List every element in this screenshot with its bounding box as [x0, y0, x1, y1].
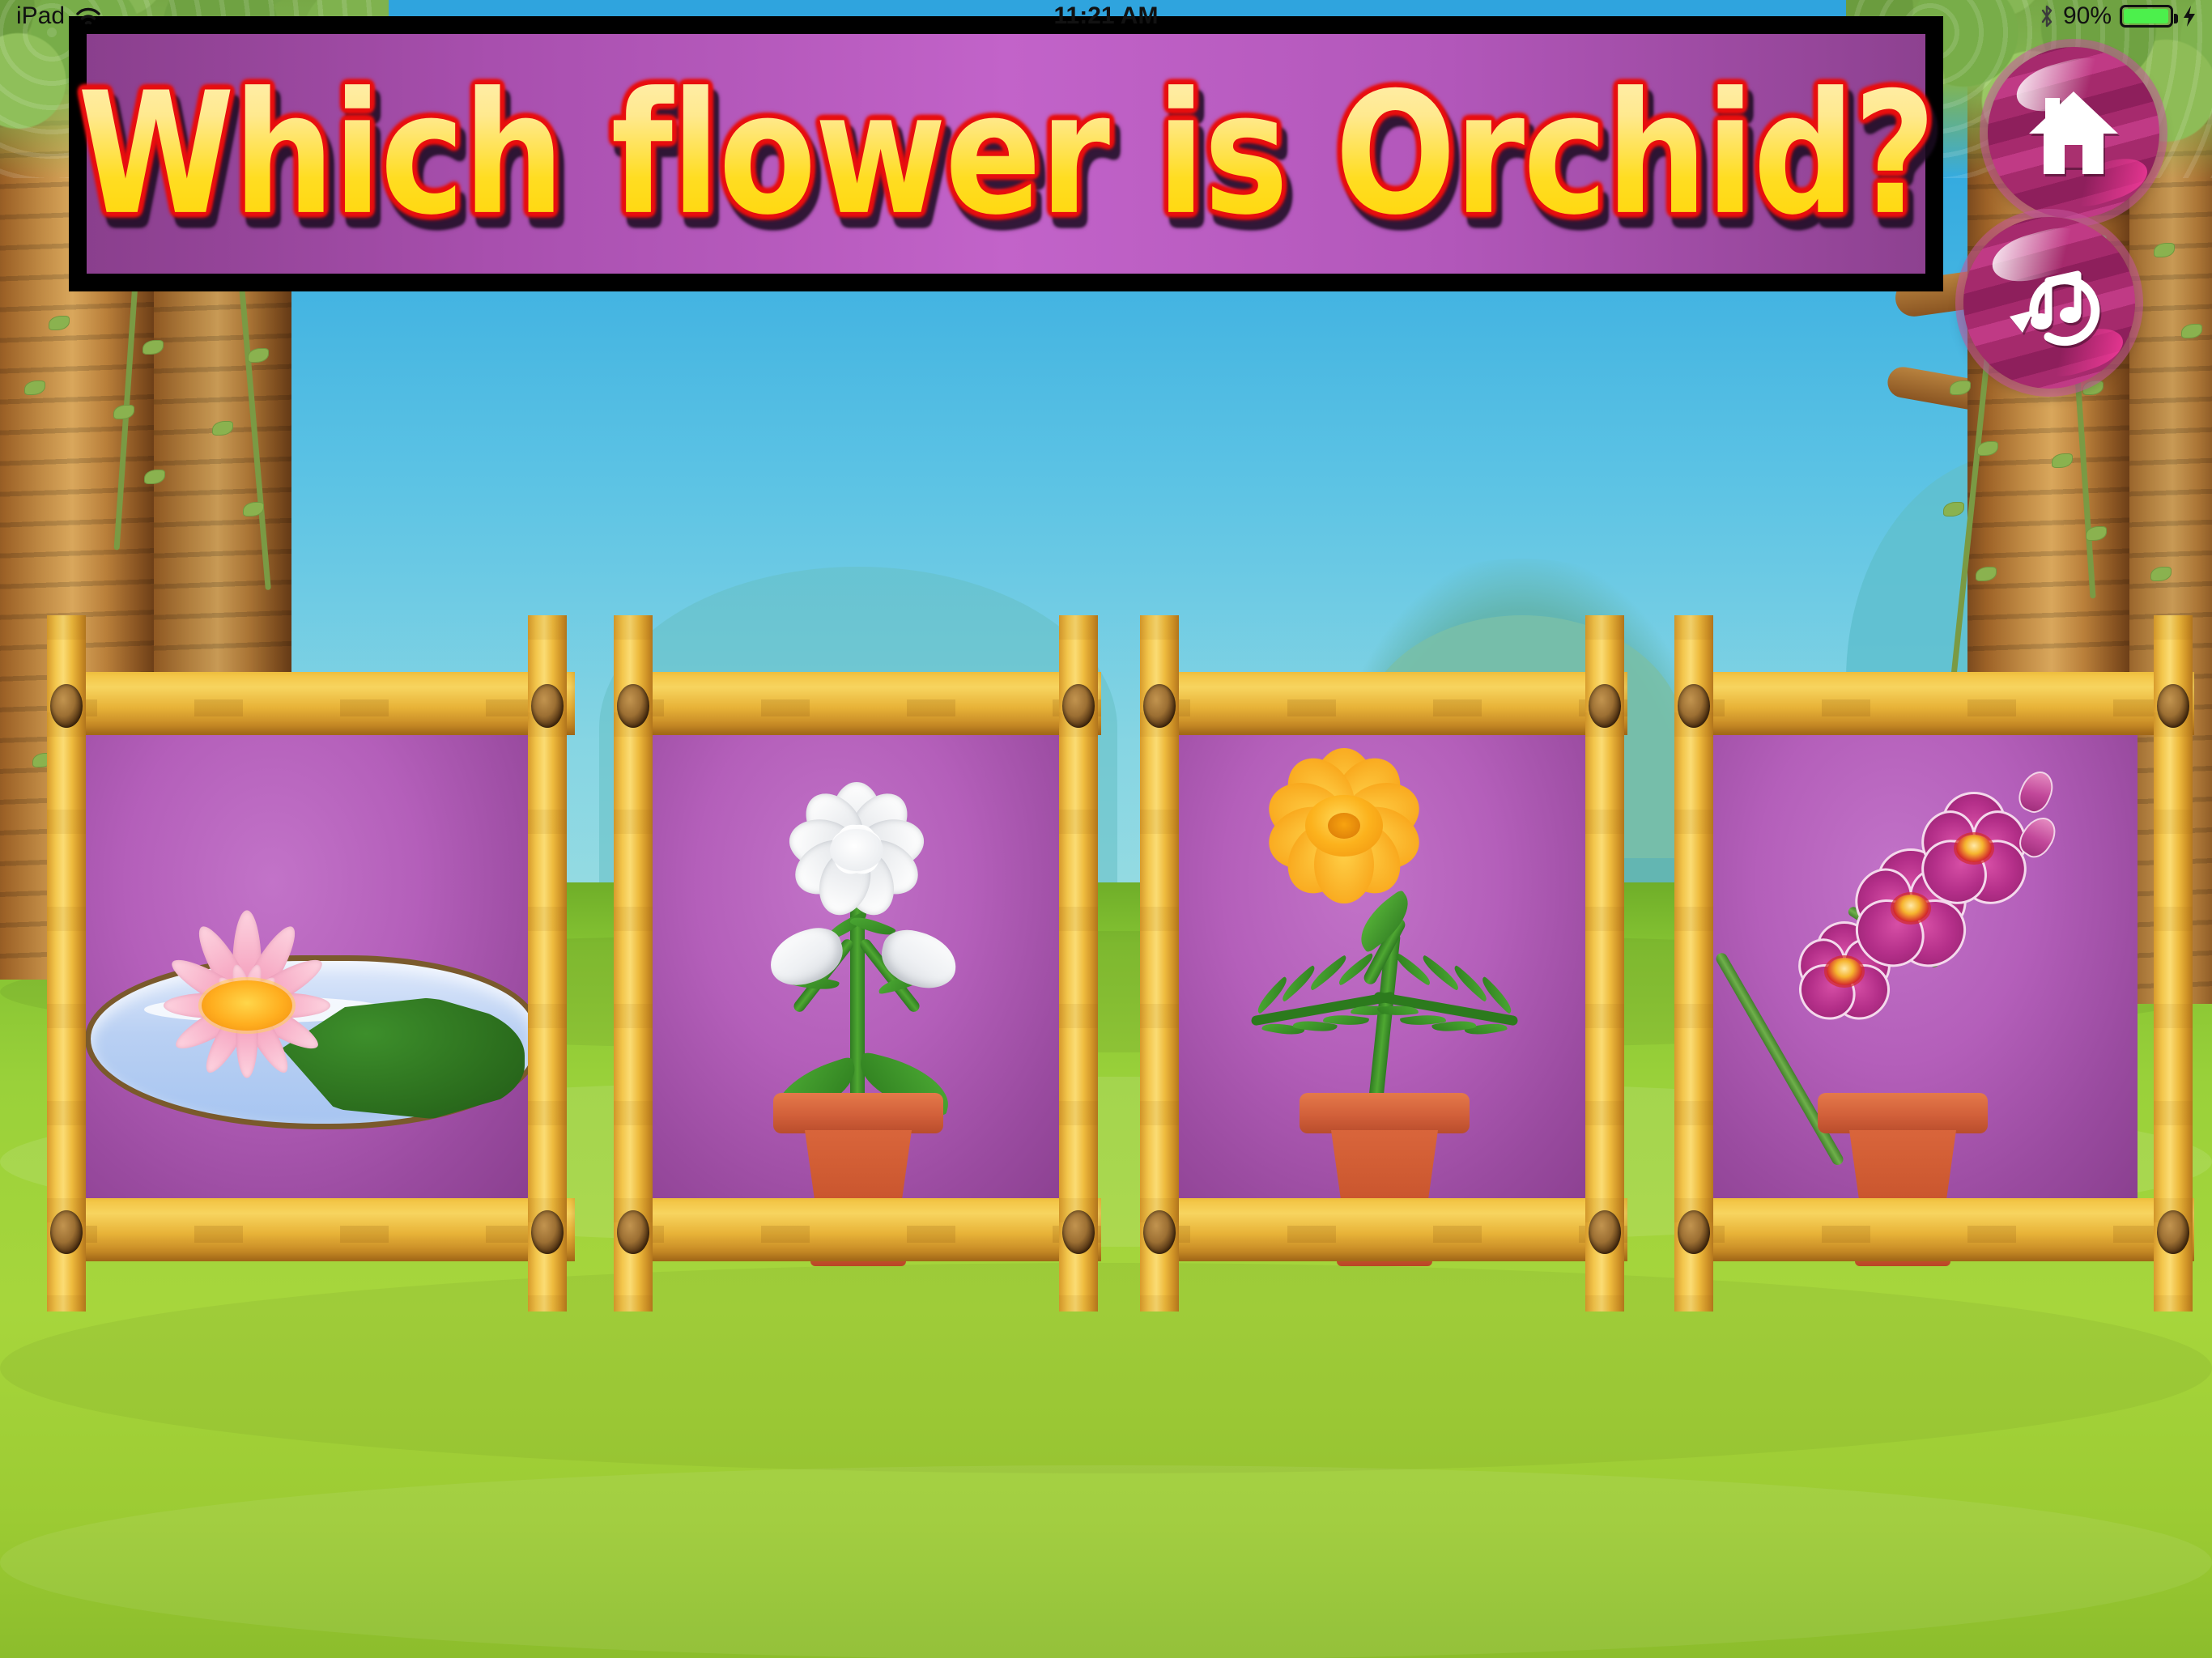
home-icon	[2026, 88, 2121, 177]
battery-icon	[2120, 5, 2173, 28]
lily-center	[202, 980, 292, 1031]
battery-fill	[2124, 9, 2168, 23]
option-4-artwork[interactable]	[1789, 729, 2065, 1198]
orchid-lip	[1893, 895, 1929, 922]
fence-rivet	[1143, 1210, 1176, 1254]
fence-rivet	[2157, 684, 2189, 728]
fence-rivet	[531, 684, 564, 728]
bluetooth-icon	[2039, 4, 2055, 28]
fern-leaf-right	[1367, 955, 1525, 1061]
fence-rail-top-3	[1142, 672, 1627, 735]
replay-sound-button[interactable]	[1963, 217, 2135, 389]
fence-rivet	[1062, 1210, 1095, 1254]
fence-rivet	[50, 684, 83, 728]
question-banner: Which flower is Orchid?	[69, 16, 1943, 291]
ios-status-bar: iPad 11:21 AM 90%	[0, 0, 2212, 32]
fence-rail-bottom-2	[615, 1198, 1101, 1261]
charging-bolt-icon	[2181, 4, 2197, 28]
status-right: 90%	[2039, 2, 2197, 30]
fence-rail-bottom-1	[49, 1198, 575, 1261]
fence-rivet	[1678, 1210, 1710, 1254]
fence-rail-top-1	[49, 672, 575, 735]
home-button[interactable]	[1988, 47, 2159, 219]
fence-rivet	[1589, 1210, 1621, 1254]
fence-rail-top-2	[615, 672, 1101, 735]
music-replay-icon	[1998, 253, 2100, 352]
fence-rivet	[50, 1210, 83, 1254]
fence-rail-bottom-4	[1676, 1198, 2194, 1261]
fence-rivet	[1062, 684, 1095, 728]
fence-rail-bottom-3	[1142, 1198, 1627, 1261]
fence-rivet	[1143, 684, 1176, 728]
game-screen: Which flower is Orchid? iPad	[0, 0, 2212, 1658]
fence-rivet	[617, 684, 649, 728]
option-3-artwork[interactable]	[1255, 729, 1514, 1198]
battery-percent-label: 90%	[2063, 2, 2112, 30]
fence-rivet	[1678, 684, 1710, 728]
fence-rivet	[617, 1210, 649, 1254]
fence-rivet	[2157, 1210, 2189, 1254]
orchid-bud-upper	[2014, 767, 2059, 818]
status-clock: 11:21 AM	[0, 2, 2212, 30]
page-title: Which flower is Orchid?	[78, 56, 1934, 252]
question-banner-inner: Which flower is Orchid?	[87, 34, 1925, 274]
fence-rail-top-4	[1676, 672, 2194, 735]
fence-rivet	[1589, 684, 1621, 728]
orchid-lip	[1827, 958, 1862, 985]
option-2-artwork[interactable]	[729, 729, 988, 1198]
option-1-artwork[interactable]	[85, 947, 506, 1141]
fence-rivet	[531, 1210, 564, 1254]
orchid-lip	[1956, 835, 1992, 862]
